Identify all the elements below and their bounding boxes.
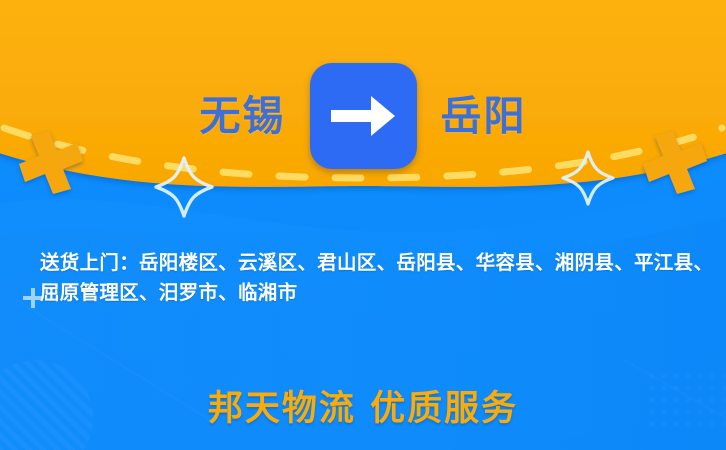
- delivery-areas-text: 送货上门：岳阳楼区、云溪区、君山区、岳阳县、华容县、湘阴县、平江县、屈原管理区、…: [40, 248, 720, 307]
- company-slogan: 邦天物流 优质服务: [0, 392, 726, 427]
- logistics-route-banner: 无锡 岳阳 送货上门：岳阳楼区、云溪区、君山区、岳阳县、华容县、湘阴县、平江县、…: [0, 0, 726, 450]
- banner-artwork: [0, 0, 726, 450]
